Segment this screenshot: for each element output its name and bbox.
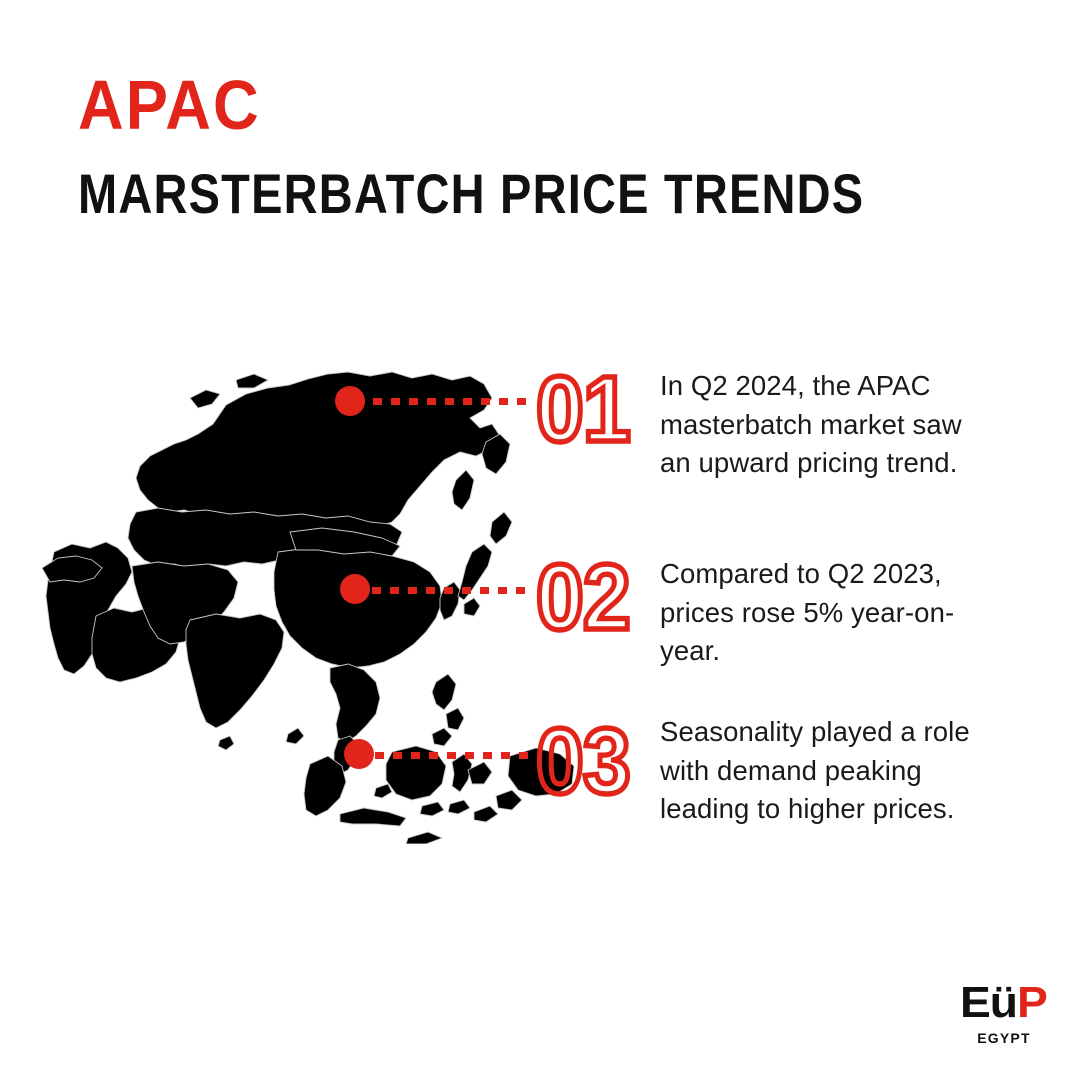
map-marker-dot-01[interactable] <box>335 386 365 416</box>
connector-line-03 <box>375 752 533 759</box>
page-title-secondary: MARSTERBATCH PRICE TRENDS <box>78 166 864 221</box>
item-text-03: Seasonality played a role with demand pe… <box>660 713 990 829</box>
asia-map-svg <box>40 352 580 844</box>
logo-letter-p: P <box>1017 978 1047 1027</box>
infographic-canvas: APAC MARSTERBATCH PRICE TRENDS <box>0 0 1080 1080</box>
item-text-02: Compared to Q2 2023, prices rose 5% year… <box>660 555 990 671</box>
item-number-01: 01 <box>536 363 630 456</box>
logo-letter-e: E <box>960 978 990 1027</box>
connector-line-01 <box>355 398 531 405</box>
map-landmass <box>42 372 574 844</box>
page-title-primary: APAC <box>78 72 880 141</box>
header: APAC MARSTERBATCH PRICE TRENDS <box>78 72 864 213</box>
item-number-02: 02 <box>536 551 630 644</box>
asia-map <box>40 352 580 844</box>
map-marker-dot-02[interactable] <box>340 574 370 604</box>
logo-letter-u-umlaut: ü <box>990 978 1017 1027</box>
item-text-01: In Q2 2024, the APAC masterbatch market … <box>660 367 990 483</box>
logo-wordmark: EüP <box>960 981 1057 1025</box>
item-number-03: 03 <box>536 715 630 808</box>
connector-line-02 <box>372 587 532 594</box>
brand-logo: EüP EGYPT <box>960 981 1052 1046</box>
map-marker-dot-03[interactable] <box>344 739 374 769</box>
logo-subtitle: EGYPT <box>960 1030 1048 1046</box>
